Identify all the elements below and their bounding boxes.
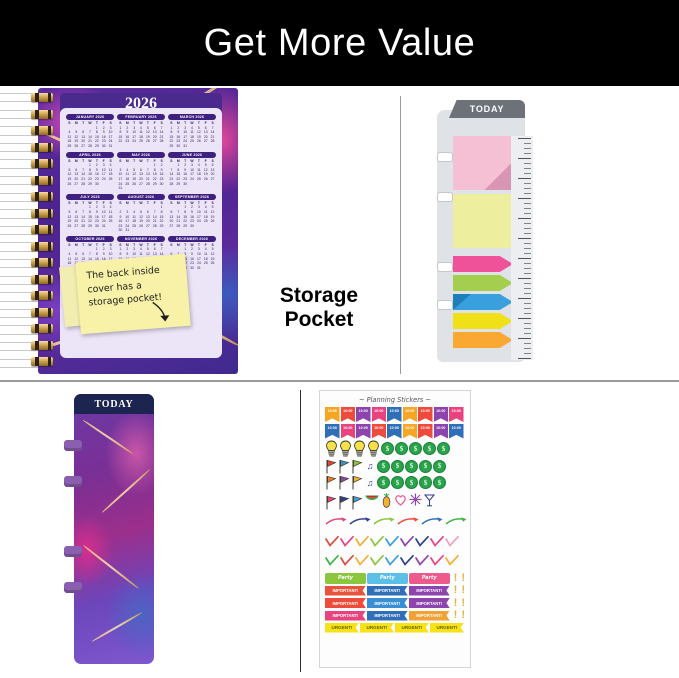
clip-notch	[64, 582, 82, 593]
dollar-coin-sticker: $	[437, 442, 450, 455]
important-label-sticker: IMPORTANT!	[325, 598, 366, 608]
month-week-row: 25262728293031	[66, 144, 114, 149]
checkmark-sticker	[385, 534, 399, 552]
feature-planning-stickers: ~ Planning Stickers ~ 10:0010:0010:0010:…	[301, 382, 679, 678]
month-name: JULY 2026	[66, 194, 114, 200]
spiral-coil	[31, 357, 53, 366]
checkmark-sticker	[415, 553, 429, 571]
dollar-coin-sticker: $	[423, 442, 436, 455]
party-banner-sticker: Party	[367, 573, 408, 584]
arrows-row	[325, 514, 465, 532]
ruler-tick	[524, 288, 531, 289]
party-banner-sticker: Party	[409, 573, 450, 584]
ruler-tick	[524, 248, 531, 249]
time-flag-row-1: 10:0010:0010:0010:0010:0010:0010:0010:00…	[325, 407, 465, 422]
important-label-row-1: IMPORTANT!IMPORTANT!IMPORTANT!!!	[325, 585, 465, 596]
blue-arrow-flag	[453, 294, 513, 310]
arrow-sticker	[325, 514, 348, 532]
checkmark-sticker	[370, 553, 384, 571]
sticky-note-front: The back inside cover has a storage pock…	[75, 254, 190, 334]
ruler-tick	[524, 343, 531, 344]
lightbulb-sticker	[325, 440, 338, 457]
ruler-tick	[518, 198, 531, 199]
urgent-label-sticker: URGENT!	[325, 623, 359, 633]
time-banner-sticker: 10:00	[341, 407, 356, 422]
exclamation-sticker: !	[454, 585, 458, 596]
sticker-sheet: ~ Planning Stickers ~ 10:0010:0010:0010:…	[319, 390, 471, 668]
exclamation-sticker: !	[454, 598, 458, 609]
time-banner-sticker: 10:00	[418, 424, 433, 439]
exclamation-sticker: !	[454, 610, 458, 621]
ruler-tick	[524, 293, 531, 294]
ruler-tick	[524, 183, 531, 184]
feature-clip-in-bookmark: TODAY Matching Clip-In Bookmark	[0, 382, 300, 678]
dollar-coin-sticker: $	[391, 476, 404, 489]
ruler-tick	[524, 268, 531, 269]
month-name: JANUARY 2026	[66, 114, 114, 120]
ruler-tick	[524, 143, 531, 144]
time-banner-sticker: 10:00	[387, 424, 402, 439]
ruler-bookmark-image: TODAY	[429, 100, 539, 368]
caption-line-1: Storage	[244, 284, 394, 308]
month-name: MAY 2026	[117, 152, 165, 158]
yellow-sticky-note	[453, 194, 511, 248]
month-name: DECEMBER 2026	[168, 236, 216, 242]
ruler-tick	[524, 173, 531, 174]
watermelon-sticker	[365, 493, 379, 511]
exclamation-sticker: !	[461, 573, 465, 584]
month-name: NOVEMBER 2026	[117, 236, 165, 242]
ruler-tick	[524, 253, 531, 254]
pennant-flag-sticker	[338, 475, 350, 490]
flags-and-icons-row	[325, 492, 465, 513]
checkmark-sticker	[445, 534, 459, 552]
time-banner-sticker: 10:00	[403, 424, 418, 439]
dollar-coin-sticker: $	[391, 460, 404, 473]
month-name: JUNE 2026	[168, 152, 216, 158]
spiral-coil	[31, 93, 53, 102]
time-banner-sticker: 10:00	[403, 407, 418, 422]
dollar-coin-sticker: $	[405, 476, 418, 489]
ruler-tick	[524, 203, 531, 204]
checkmark-row-1	[325, 534, 465, 552]
calendar-month: SEPTEMBER 2026SMTWTFS1234567891011121314…	[168, 194, 216, 233]
yellow-arrow-flag	[453, 313, 513, 329]
ruler-tick	[518, 278, 531, 279]
green-arrow-flag	[453, 275, 513, 291]
dollar-coin-sticker: $	[409, 442, 422, 455]
time-banner-sticker: 10:00	[325, 407, 340, 422]
spiral-coil	[31, 192, 53, 201]
ruler-tick	[524, 208, 531, 209]
time-banner-sticker: 10:00	[325, 424, 340, 439]
checkmark-sticker	[340, 534, 354, 552]
urgent-label-sticker: URGENT!	[360, 623, 394, 633]
arrow-sticker	[445, 514, 468, 532]
ruler-tick	[524, 313, 531, 314]
calendar-months-grid: JANUARY 2026SMTWTFS123456789101112131415…	[62, 110, 220, 274]
checkmark-sticker	[355, 553, 369, 571]
ruler-tick	[524, 228, 531, 229]
ruler-tick	[518, 138, 531, 139]
dollar-coin-sticker: $	[419, 476, 432, 489]
header-banner: Get More Value	[0, 0, 679, 86]
ruler-tick	[524, 213, 531, 214]
pennant-flag-sticker	[351, 475, 363, 490]
important-label-row-2: IMPORTANT!IMPORTANT!IMPORTANT!!!	[325, 598, 465, 609]
month-name: OCTOBER 2026	[66, 236, 114, 242]
party-banner-sticker: Party	[325, 573, 366, 584]
lightbulb-sticker	[367, 440, 380, 457]
dollar-coin-sticker: $	[419, 460, 432, 473]
calendar-month: JANUARY 2026SMTWTFS123456789101112131415…	[66, 114, 114, 149]
urgent-label-sticker: URGENT!	[430, 623, 464, 633]
month-name: FEBRUARY 2026	[117, 114, 165, 120]
time-banner-sticker: 10:00	[341, 424, 356, 439]
important-label-sticker: IMPORTANT!	[409, 586, 450, 596]
dollar-coin-sticker: $	[381, 442, 394, 455]
caption-line-2: Pocket	[244, 308, 394, 332]
dollar-coin-sticker: $	[395, 442, 408, 455]
month-week-row: 2627282930	[66, 182, 114, 187]
dollar-coin-sticker: $	[377, 460, 390, 473]
orange-arrow-flag	[453, 332, 513, 348]
peeled-corner	[485, 164, 511, 190]
ruler-tick	[518, 178, 531, 179]
ruler-tick	[524, 353, 531, 354]
time-banner-sticker: 10:00	[434, 407, 449, 422]
bulbs-and-coins-row: $$$$$	[325, 440, 465, 457]
important-label-sticker: IMPORTANT!	[325, 611, 366, 621]
calendar-month: FEBRUARY 2026SMTWTFS12345678910111213141…	[117, 114, 165, 149]
checkmark-sticker	[355, 534, 369, 552]
ruler-tick	[524, 163, 531, 164]
checkmark-sticker	[325, 553, 339, 571]
important-label-sticker: IMPORTANT!	[409, 598, 450, 608]
time-banner-sticker: 10:00	[356, 424, 371, 439]
ruler-tick	[524, 323, 531, 324]
lightbulb-sticker	[339, 440, 352, 457]
music-note-sticker: ♫	[364, 478, 376, 488]
disc-notch	[437, 262, 453, 272]
ruler-body	[437, 110, 525, 362]
today-tab-label: TODAY	[449, 100, 525, 118]
checkmark-sticker	[370, 534, 384, 552]
time-banner-sticker: 10:00	[372, 424, 387, 439]
calendar-month: APRIL 2026SMTWTFS12345678910111213141516…	[66, 152, 114, 191]
disc-notch	[437, 152, 453, 162]
checkmark-sticker	[430, 534, 444, 552]
spiral-coil	[31, 209, 53, 218]
ruler-tick	[524, 308, 531, 309]
ruler-tick	[524, 348, 531, 349]
music-note-sticker: ♫	[364, 461, 376, 471]
exclamation-sticker: !	[461, 610, 465, 621]
ruler-tick	[518, 358, 531, 359]
month-name: AUGUST 2026	[117, 194, 165, 200]
today-tab-label: TODAY	[74, 394, 154, 414]
time-banner-sticker: 10:00	[449, 424, 464, 439]
ruler-tick	[518, 218, 531, 219]
cocktail-sticker	[424, 493, 435, 512]
ruler-tick	[518, 318, 531, 319]
dollar-coin-sticker: $	[433, 460, 446, 473]
checkmark-sticker	[430, 553, 444, 571]
important-label-sticker: IMPORTANT!	[325, 586, 366, 596]
important-label-sticker: IMPORTANT!	[367, 586, 408, 596]
checkmark-row-2	[325, 553, 465, 571]
spiral-coil	[31, 225, 53, 234]
ruler-tick	[518, 298, 531, 299]
feature-storage-pocket: 2026 JANUARY 2026SMTWTFS1234567891011121…	[0, 86, 400, 380]
ruler-tick	[524, 303, 531, 304]
month-name: SEPTEMBER 2026	[168, 194, 216, 200]
time-flag-row-2: 10:0010:0010:0010:0010:0010:0010:0010:00…	[325, 424, 465, 439]
ruler-tick	[524, 243, 531, 244]
urgent-label-row: URGENT!URGENT!URGENT!URGENT!	[325, 623, 465, 633]
lightbulb-sticker	[353, 440, 366, 457]
month-week-row: 31	[117, 186, 165, 191]
calendar-month: AUGUST 2026SMTWTFS1234567891011121314151…	[117, 194, 165, 233]
pink-sticky-note	[453, 136, 511, 190]
dollar-coin-sticker: $	[377, 476, 390, 489]
ruler-tick	[518, 238, 531, 239]
month-name: APRIL 2026	[66, 152, 114, 158]
spiral-coil	[31, 341, 53, 350]
feature-sticky-notes-ruler: TODAY 175Sticky Notes + Ruler	[401, 86, 679, 380]
important-label-sticker: IMPORTANT!	[367, 611, 408, 621]
calendar-month: JULY 2026SMTWTFS123456789101112131415161…	[66, 194, 114, 233]
dollar-coin-sticker: $	[405, 460, 418, 473]
time-banner-sticker: 10:00	[372, 407, 387, 422]
ruler-tick	[518, 158, 531, 159]
pennant-flag-sticker	[325, 475, 337, 490]
curved-down-arrow-icon	[147, 299, 179, 327]
pineapple-sticker	[381, 492, 392, 513]
clip-notch	[64, 546, 82, 557]
storage-pocket-caption: Storage Pocket	[244, 284, 394, 332]
month-week-row: 262728293031	[66, 224, 114, 229]
checkmark-sticker	[340, 553, 354, 571]
heart-outline-sticker	[394, 493, 407, 511]
time-banner-sticker: 10:00	[356, 407, 371, 422]
checkmark-sticker	[415, 534, 429, 552]
checkmark-sticker	[400, 534, 414, 552]
spiral-coil	[31, 126, 53, 135]
arrow-sticker	[421, 514, 444, 532]
month-week-row: 22232425262728	[117, 139, 165, 144]
month-week-row: 27282930	[168, 224, 216, 229]
checkmark-sticker	[400, 553, 414, 571]
ruler-tick	[524, 223, 531, 224]
spiral-coil	[31, 275, 53, 284]
checkmark-sticker	[445, 553, 459, 571]
exclamation-sticker: !	[454, 573, 458, 584]
clip-notch	[64, 476, 82, 487]
month-name: MARCH 2026	[168, 114, 216, 120]
arrow-sticker	[373, 514, 396, 532]
disc-notch	[437, 300, 453, 310]
exclamation-sticker: !	[461, 598, 465, 609]
important-label-row-3: IMPORTANT!IMPORTANT!IMPORTANT!!!	[325, 610, 465, 621]
snowflake-sticker	[409, 493, 422, 511]
product-infographic: Get More Value 2026 JANUARY 2026SMTWTFS1…	[0, 0, 679, 678]
checkmark-sticker	[385, 553, 399, 571]
flags-and-coins-row-1: ♫$$$$$	[325, 459, 465, 474]
spiral-coil	[31, 110, 53, 119]
spiral-coil	[31, 242, 53, 251]
urgent-label-sticker: URGENT!	[395, 623, 429, 633]
spiral-coil	[31, 176, 53, 185]
sticker-sheet-title: ~ Planning Stickers ~	[325, 396, 465, 404]
arrow-sticker	[397, 514, 420, 532]
ruler-tick	[524, 148, 531, 149]
time-banner-sticker: 10:00	[387, 407, 402, 422]
important-label-sticker: IMPORTANT!	[409, 611, 450, 621]
time-banner-sticker: 10:00	[418, 407, 433, 422]
ruler-tick	[524, 328, 531, 329]
ruler-tick	[518, 338, 531, 339]
time-banner-sticker: 10:00	[449, 407, 464, 422]
sticker-rows: 10:0010:0010:0010:0010:0010:0010:0010:00…	[325, 407, 465, 633]
pennant-flag-sticker	[338, 495, 350, 510]
pennant-flag-sticker	[325, 495, 337, 510]
ruler-tick	[524, 188, 531, 189]
ruler-tick	[524, 273, 531, 274]
ruler-tick	[524, 263, 531, 264]
planner-cover: 2026 JANUARY 2026SMTWTFS1234567891011121…	[38, 88, 238, 374]
pennant-flag-sticker	[351, 459, 363, 474]
page-title: Get More Value	[204, 22, 476, 65]
ruler-tick	[518, 258, 531, 259]
ruler-tick	[524, 333, 531, 334]
spiral-coil	[31, 258, 53, 267]
calendar-month: MARCH 2026SMTWTFS12345678910111213141516…	[168, 114, 216, 149]
ruler-tick	[524, 283, 531, 284]
spiral-coil	[31, 143, 53, 152]
month-week-row: 293031	[168, 144, 216, 149]
ruler-scale	[511, 136, 533, 360]
disc-notch	[437, 192, 453, 202]
pennant-flag-sticker	[325, 459, 337, 474]
spiral-coil	[31, 324, 53, 333]
spiral-coil	[31, 291, 53, 300]
pink-arrow-flag	[453, 256, 513, 272]
bookmark-image: TODAY	[64, 394, 174, 666]
checkmark-sticker	[325, 534, 339, 552]
ruler-tick	[524, 233, 531, 234]
time-banner-sticker: 10:00	[434, 424, 449, 439]
calendar-month: MAY 2026SMTWTFS1234567891011121314151617…	[117, 152, 165, 191]
ruler-tick	[524, 153, 531, 154]
bookmark-body	[74, 394, 154, 664]
ruler-tick	[524, 168, 531, 169]
ruler-tick	[524, 193, 531, 194]
exclamation-sticker: !	[461, 585, 465, 596]
month-week-row: 3031	[117, 228, 165, 233]
spiral-coil	[31, 308, 53, 317]
calendar-month: JUNE 2026SMTWTFS123456789101112131415161…	[168, 152, 216, 191]
planner-image: 2026 JANUARY 2026SMTWTFS1234567891011121…	[0, 86, 240, 376]
important-label-sticker: IMPORTANT!	[367, 598, 408, 608]
month-week-row: 282930	[168, 182, 216, 187]
spiral-coil	[31, 159, 53, 168]
pennant-flag-sticker	[351, 495, 363, 510]
clip-notch	[64, 440, 82, 451]
dollar-coin-sticker: $	[433, 476, 446, 489]
arrow-sticker	[349, 514, 372, 532]
pennant-flag-sticker	[338, 459, 350, 474]
flags-and-coins-row-2: ♫$$$$$	[325, 475, 465, 490]
party-banner-row: PartyPartyParty!!	[325, 573, 465, 584]
